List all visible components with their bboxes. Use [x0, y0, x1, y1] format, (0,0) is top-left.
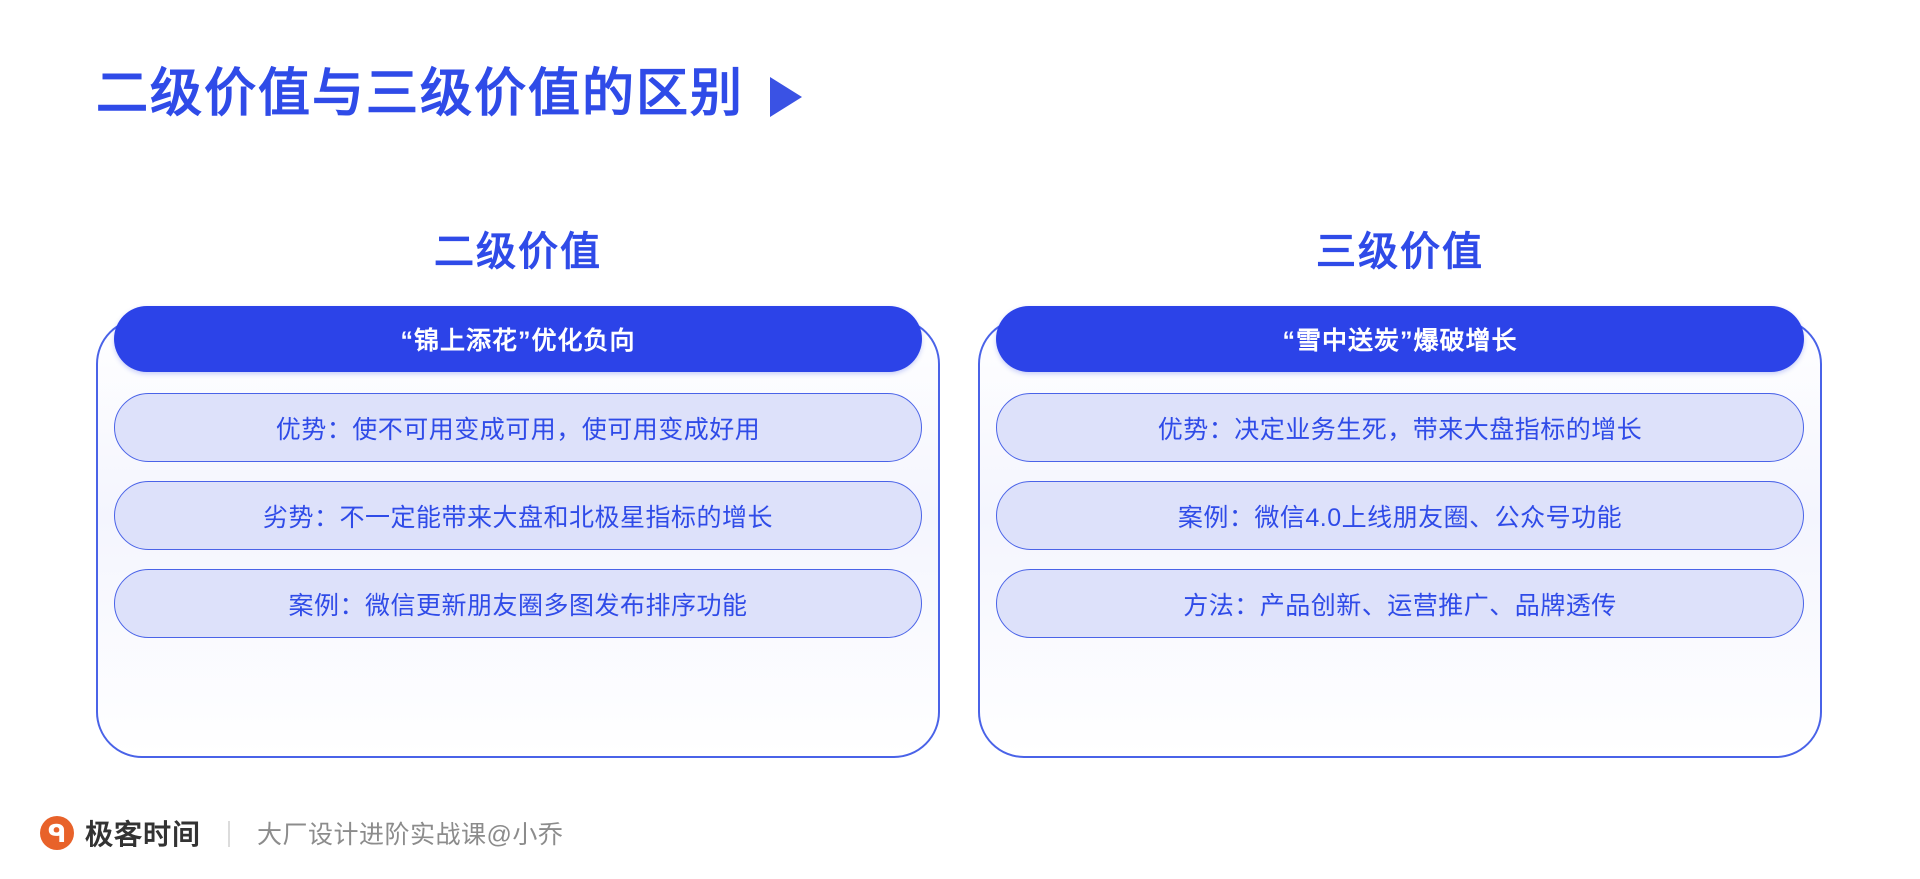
list-item-label: 案例：微信4.0上线朋友圈、公众号功能 [1178, 498, 1622, 534]
list-item[interactable]: 案例：微信更新朋友圈多图发布排序功能 [114, 569, 922, 638]
footer-separator: ｜ [216, 815, 242, 852]
list-item-label: 优势：决定业务生死，带来大盘指标的增长 [1158, 410, 1643, 446]
column-heading-right: 三级价值 [978, 219, 1822, 277]
list-item-label: 方法：产品创新、运营推广、品牌透传 [1183, 586, 1617, 622]
card-item-list-left: 优势：使不可用变成可用，使可用变成好用 劣势：不一定能带来大盘和北极星指标的增长… [114, 393, 922, 638]
list-item-label: 案例：微信更新朋友圈多图发布排序功能 [288, 586, 747, 622]
geekbang-logo-icon: ᑫ [40, 816, 74, 850]
page-title-text: 二级价值与三级价值的区别 [96, 66, 744, 123]
play-triangle-icon [770, 77, 802, 117]
card-item-list-right: 优势：决定业务生死，带来大盘指标的增长 案例：微信4.0上线朋友圈、公众号功能 … [996, 393, 1804, 638]
list-item[interactable]: 案例：微信4.0上线朋友圈、公众号功能 [996, 481, 1804, 550]
page-title: 二级价值与三级价值的区别 [96, 66, 802, 123]
list-item[interactable]: 优势：决定业务生死，带来大盘指标的增长 [996, 393, 1804, 462]
column-heading-left: 二级价值 [96, 219, 940, 277]
card-header-right-text: “雪中送炭”爆破增长 [1282, 321, 1517, 357]
list-item[interactable]: 方法：产品创新、运营推广、品牌透传 [996, 569, 1804, 638]
card-header-left: “锦上添花”优化负向 [114, 306, 922, 372]
list-item[interactable]: 劣势：不一定能带来大盘和北极星指标的增长 [114, 481, 922, 550]
value-card-third-level: “雪中送炭”爆破增长 优势：决定业务生死，带来大盘指标的增长 案例：微信4.0上… [978, 318, 1822, 758]
footer-course-name: 大厂设计进阶实战课@小乔 [257, 815, 563, 851]
card-header-left-text: “锦上添花”优化负向 [400, 321, 635, 357]
list-item-label: 优势：使不可用变成可用，使可用变成好用 [276, 410, 761, 446]
slide-canvas: 二级价值与三级价值的区别 二级价值 三级价值 “锦上添花”优化负向 优势：使不可… [0, 0, 1920, 879]
footer-brand-name: 极客时间 [85, 813, 201, 853]
list-item-label: 劣势：不一定能带来大盘和北极星指标的增长 [263, 498, 773, 534]
list-item[interactable]: 优势：使不可用变成可用，使可用变成好用 [114, 393, 922, 462]
value-card-second-level: “锦上添花”优化负向 优势：使不可用变成可用，使可用变成好用 劣势：不一定能带来… [96, 318, 940, 758]
footer: ᑫ 极客时间 ｜ 大厂设计进阶实战课@小乔 [40, 811, 563, 855]
card-header-right: “雪中送炭”爆破增长 [996, 306, 1804, 372]
geekbang-logo-glyph: ᑫ [40, 816, 74, 850]
